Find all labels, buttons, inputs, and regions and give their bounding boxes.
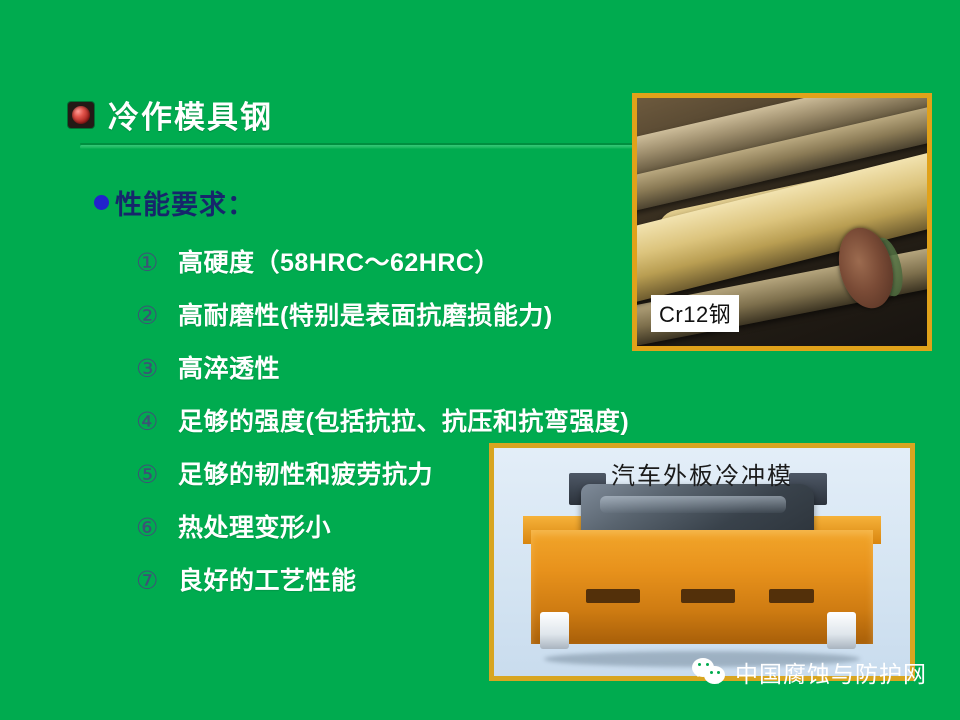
watermark: 中国腐蚀与防护网 [692, 655, 927, 689]
list-item-number: ⑦ [136, 568, 178, 593]
list-item-label: 足够的强度(包括抗拉、抗压和抗弯强度) [178, 402, 629, 438]
stamping-die-caption: 汽车外板冷冲模 [611, 456, 793, 491]
slide-title-row: 冷作模具钢 [68, 92, 273, 137]
list-item-label: 高硬度（58HRC～62HRC） [178, 243, 500, 279]
blue-dot-icon [94, 195, 109, 210]
subheading-label: 性能要求： [115, 183, 255, 222]
list-item-label: 热处理变形小 [178, 508, 331, 544]
page-title: 冷作模具钢 [108, 92, 273, 137]
list-item-label: 高耐磨性(特别是表面抗磨损能力) [178, 296, 553, 332]
list-item-number: ③ [136, 356, 178, 381]
list-item-number: ② [136, 303, 178, 328]
list-item-number: ④ [136, 409, 178, 434]
list-item-number: ⑤ [136, 462, 178, 487]
list-item-number: ⑥ [136, 515, 178, 540]
title-divider [80, 143, 640, 150]
list-item-label: 良好的工艺性能 [178, 561, 357, 597]
list-item-label: 足够的韧性和疲劳抗力 [178, 455, 433, 491]
steel-bars-photo: Cr12钢 [632, 93, 932, 351]
wechat-icon [692, 658, 726, 686]
watermark-label: 中国腐蚀与防护网 [735, 655, 927, 689]
list-item-label: 高淬透性 [178, 349, 280, 385]
list-item: ③ 高淬透性 [136, 349, 856, 402]
slide-canvas: 冷作模具钢 性能要求： ① 高硬度（58HRC～62HRC） ② 高耐磨性(特别… [0, 0, 960, 720]
list-item-number: ① [136, 250, 178, 275]
subheading-row: 性能要求： [94, 183, 255, 222]
steel-bars-caption: Cr12钢 [651, 295, 739, 332]
stamping-die-photo: 汽车外板冷冲模 [489, 443, 915, 681]
red-orb-icon [68, 102, 94, 128]
